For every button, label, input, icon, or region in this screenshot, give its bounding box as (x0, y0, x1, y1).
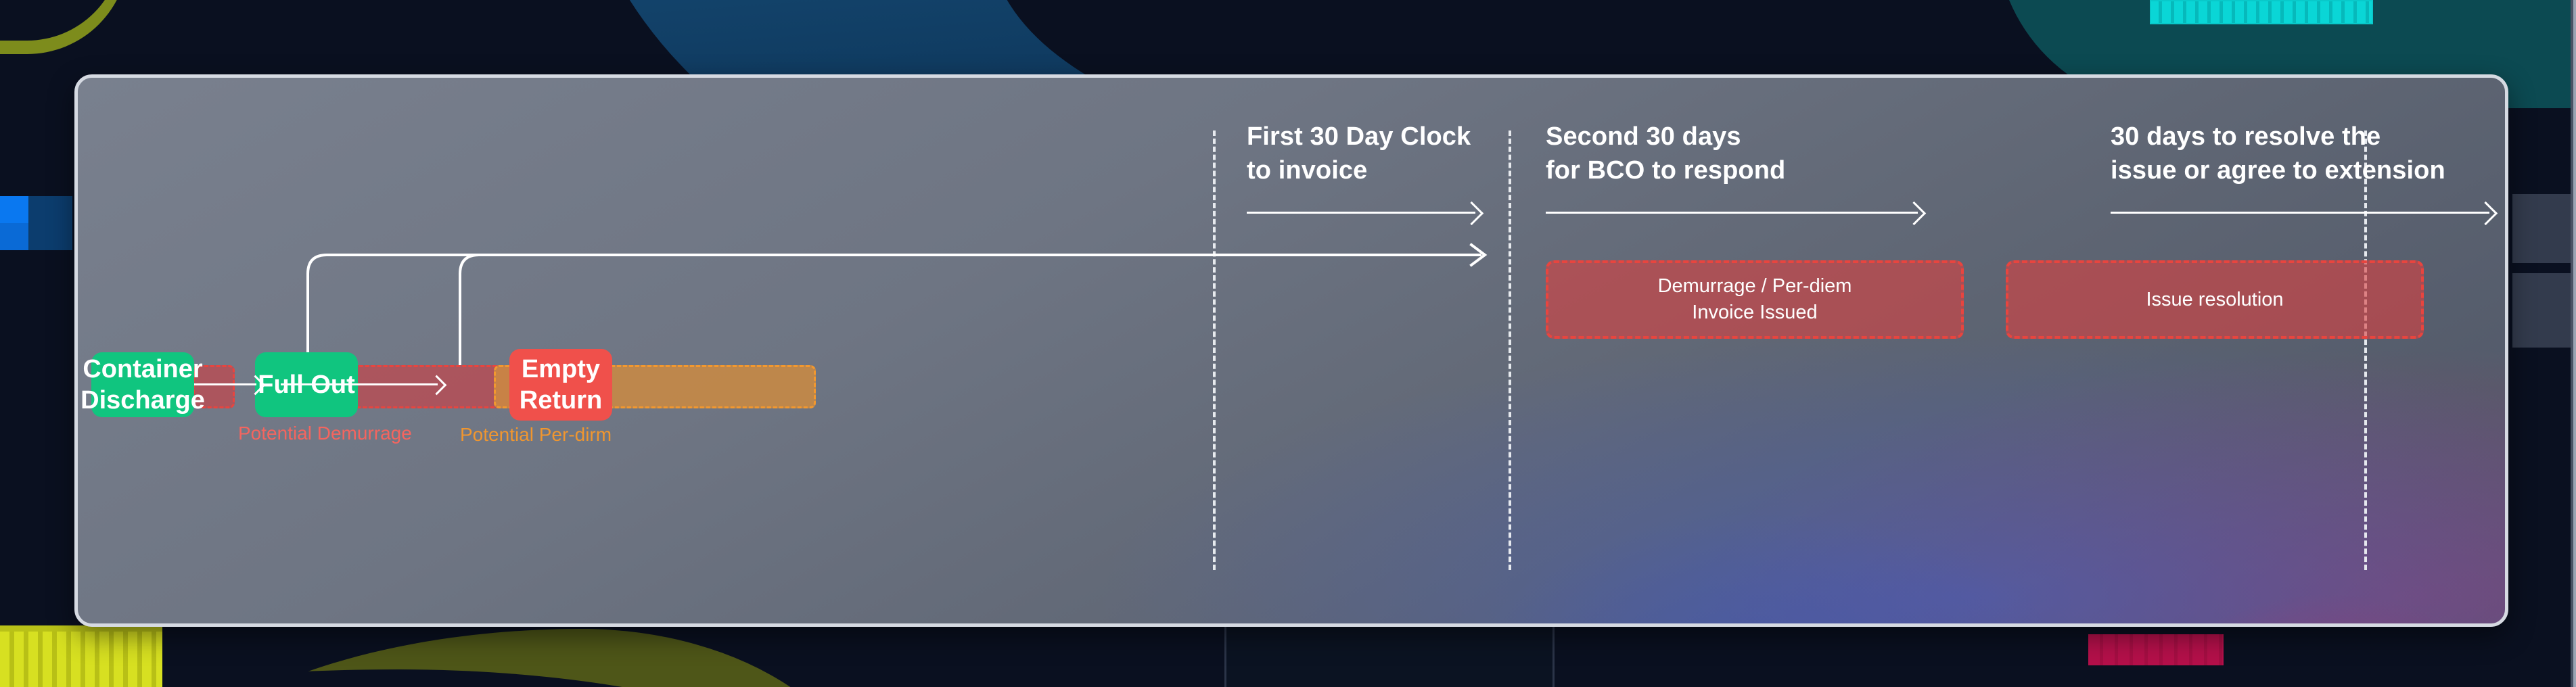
background-olive-curve-mask (0, 669, 947, 687)
connector-lines (78, 78, 2505, 623)
node-empty-return[interactable]: Empty Return (509, 349, 612, 421)
bottom-outlined-box (1224, 617, 1555, 687)
caption-potential-perdiem: Potential Per-dirm (460, 424, 612, 446)
right-edge-strip-dark (2571, 0, 2573, 687)
crimson-shipping-container-icon (2088, 634, 2224, 665)
cyan-shipping-container-icon (2150, 0, 2373, 24)
right-edge-panel-top (2512, 194, 2576, 263)
yellow-shipping-container-icon (0, 625, 162, 687)
arrow-fullout-to-emptyreturn (281, 378, 450, 392)
background-olive-mask (0, 0, 122, 41)
caption-potential-demurrage: Potential Demurrage (238, 423, 412, 444)
right-edge-panel-bottom (2512, 273, 2576, 348)
demurrage-timeline-card: Container Discharge Full Out Empty Retur… (74, 74, 2508, 627)
left-blue-marker-b (28, 196, 72, 250)
arrow-discharge-to-fullout (194, 378, 269, 392)
background-olive-curve (135, 629, 879, 687)
screenshot-root: Container Discharge Full Out Empty Retur… (0, 0, 2576, 687)
background-olive-blob (0, 0, 129, 54)
left-blue-marker-a (0, 196, 28, 250)
left-blue-marker-c (0, 223, 28, 250)
node-container-discharge[interactable]: Container Discharge (91, 352, 194, 417)
right-edge-strip-light (2573, 0, 2576, 687)
